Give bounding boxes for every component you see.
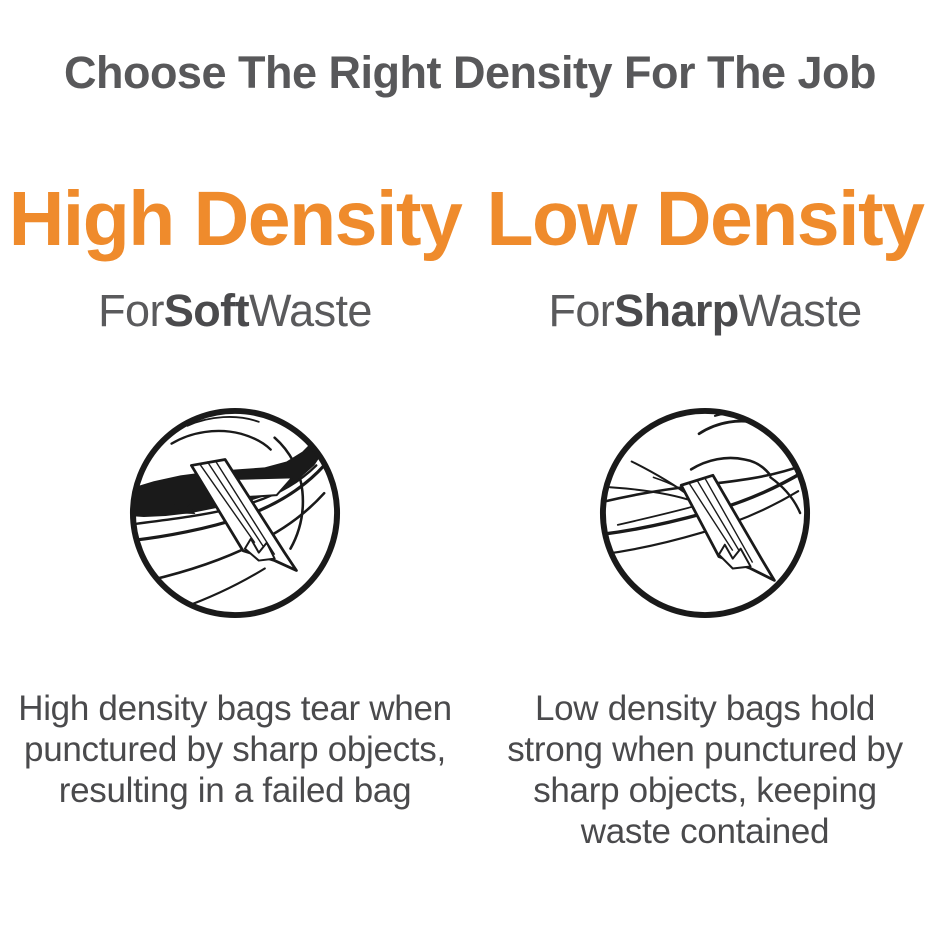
subtitle-strong-word: Sharp (614, 288, 739, 333)
subtitle-prefix: For (548, 288, 614, 333)
caption-high-density: High density bags tear when punctured by… (15, 688, 455, 811)
column-low-density: Low Density For Sharp Waste (470, 176, 940, 852)
subtitle-strong-word: Soft (164, 288, 249, 333)
illustration-high-density (126, 404, 344, 622)
subtitle-prefix: For (98, 288, 164, 333)
subtitle-high-density: For Soft Waste (98, 284, 372, 336)
heading-low-density: Low Density (486, 176, 923, 262)
column-high-density: High Density For Soft Waste (0, 176, 470, 811)
heading-high-density: High Density (9, 176, 462, 262)
page-title: Choose The Right Density For The Job (0, 48, 940, 98)
subtitle-low-density: For Sharp Waste (548, 284, 861, 336)
illustration-low-density (596, 404, 814, 622)
subtitle-suffix: Waste (249, 288, 372, 333)
bag-holding-strong-icon (596, 404, 814, 622)
comparison-columns: High Density For Soft Waste (0, 176, 940, 852)
infographic-page: Choose The Right Density For The Job Hig… (0, 0, 940, 940)
caption-low-density: Low density bags hold strong when punctu… (485, 688, 925, 852)
subtitle-suffix: Waste (739, 288, 862, 333)
bag-torn-by-sharp-object-icon (126, 404, 344, 622)
